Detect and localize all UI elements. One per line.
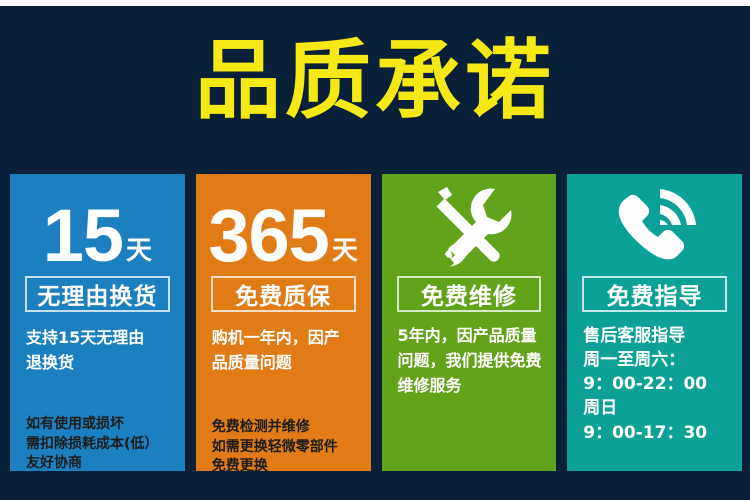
guarantee-card-list: 15 天 无理由换货 支持15天无理由 退换货 如有使用或损坏 需扣除损耗成本(… <box>10 174 742 471</box>
card-main-line: 支持15天无理由 <box>26 326 175 351</box>
card-main-line: 售后客服指导 <box>583 324 732 348</box>
card-main-line: 9：00-17：30 <box>583 421 732 445</box>
card-header-warranty: 365 天 <box>196 174 371 272</box>
badge-repair: 免费维修 <box>397 276 542 312</box>
card-sub-text-warranty: 免费检测并维修 如需更换轻微零部件 免费更换 <box>212 418 363 471</box>
day-count-warranty: 365 <box>208 202 328 270</box>
card-main-text-warranty: 购机一年内，因产 品质量问题 <box>212 326 361 376</box>
badge-warranty: 免费质保 <box>211 276 356 312</box>
guarantee-card-repair[interactable]: 免费维修 5年内，因产品质量 问题，我们提供免费 维修服务 <box>382 174 557 471</box>
card-main-line: 9：00-22：00 <box>583 372 732 396</box>
card-main-line: 5年内，因产品质量 <box>398 324 547 349</box>
badge-label-warranty: 免费质保 <box>235 277 331 311</box>
badge-label-return: 无理由换货 <box>37 277 157 311</box>
badge-return: 无理由换货 <box>25 276 170 312</box>
phone-ring-icon <box>567 178 742 272</box>
card-main-line: 周一至周六： <box>583 348 732 372</box>
card-main-line: 购机一年内，因产 <box>212 326 361 351</box>
wrench-screwdriver-icon <box>382 178 557 272</box>
card-sub-line: 友好协商 <box>26 454 177 471</box>
card-main-text-guidance: 售后客服指导 周一至周六： 9：00-22：00 周日 9：00-17：30 <box>583 324 732 445</box>
promo-banner: 品质承诺 15 天 无理由换货 支持15天无理由 退换货 如有使用或损坏 需扣除… <box>0 6 750 500</box>
badge-label-guidance: 免费指导 <box>607 277 703 311</box>
card-sub-line: 免费检测并维修 <box>212 418 363 438</box>
day-count-return: 15 <box>43 202 123 270</box>
card-sub-line: 如有使用或损坏 <box>26 415 177 435</box>
page-title: 品质承诺 <box>0 38 750 124</box>
day-unit-warranty: 天 <box>332 238 358 264</box>
card-sub-line: 需扣除损耗成本(低） <box>26 435 177 455</box>
card-header-return: 15 天 <box>10 174 185 272</box>
card-main-line: 品质量问题 <box>212 351 361 376</box>
day-unit-return: 天 <box>126 238 152 264</box>
badge-guidance: 免费指导 <box>582 276 727 312</box>
card-main-line: 维修服务 <box>398 374 547 399</box>
card-sub-line: 如需更换轻微零部件 <box>212 438 363 458</box>
guarantee-card-warranty[interactable]: 365 天 免费质保 购机一年内，因产 品质量问题 免费检测并维修 如需更换轻微… <box>196 174 371 471</box>
guarantee-card-return[interactable]: 15 天 无理由换货 支持15天无理由 退换货 如有使用或损坏 需扣除损耗成本(… <box>10 174 185 471</box>
badge-label-repair: 免费维修 <box>421 277 517 311</box>
card-main-line: 周日 <box>583 396 732 420</box>
card-sub-text-return: 如有使用或损坏 需扣除损耗成本(低） 友好协商 <box>26 415 177 471</box>
card-main-text-return: 支持15天无理由 退换货 <box>26 326 175 376</box>
card-main-line: 问题，我们提供免费 <box>398 349 547 374</box>
card-main-line: 退换货 <box>26 351 175 376</box>
card-sub-line: 免费更换 <box>212 457 363 471</box>
card-main-text-repair: 5年内，因产品质量 问题，我们提供免费 维修服务 <box>398 324 547 398</box>
guarantee-card-guidance[interactable]: 免费指导 售后客服指导 周一至周六： 9：00-22：00 周日 9：00-17… <box>567 174 742 471</box>
